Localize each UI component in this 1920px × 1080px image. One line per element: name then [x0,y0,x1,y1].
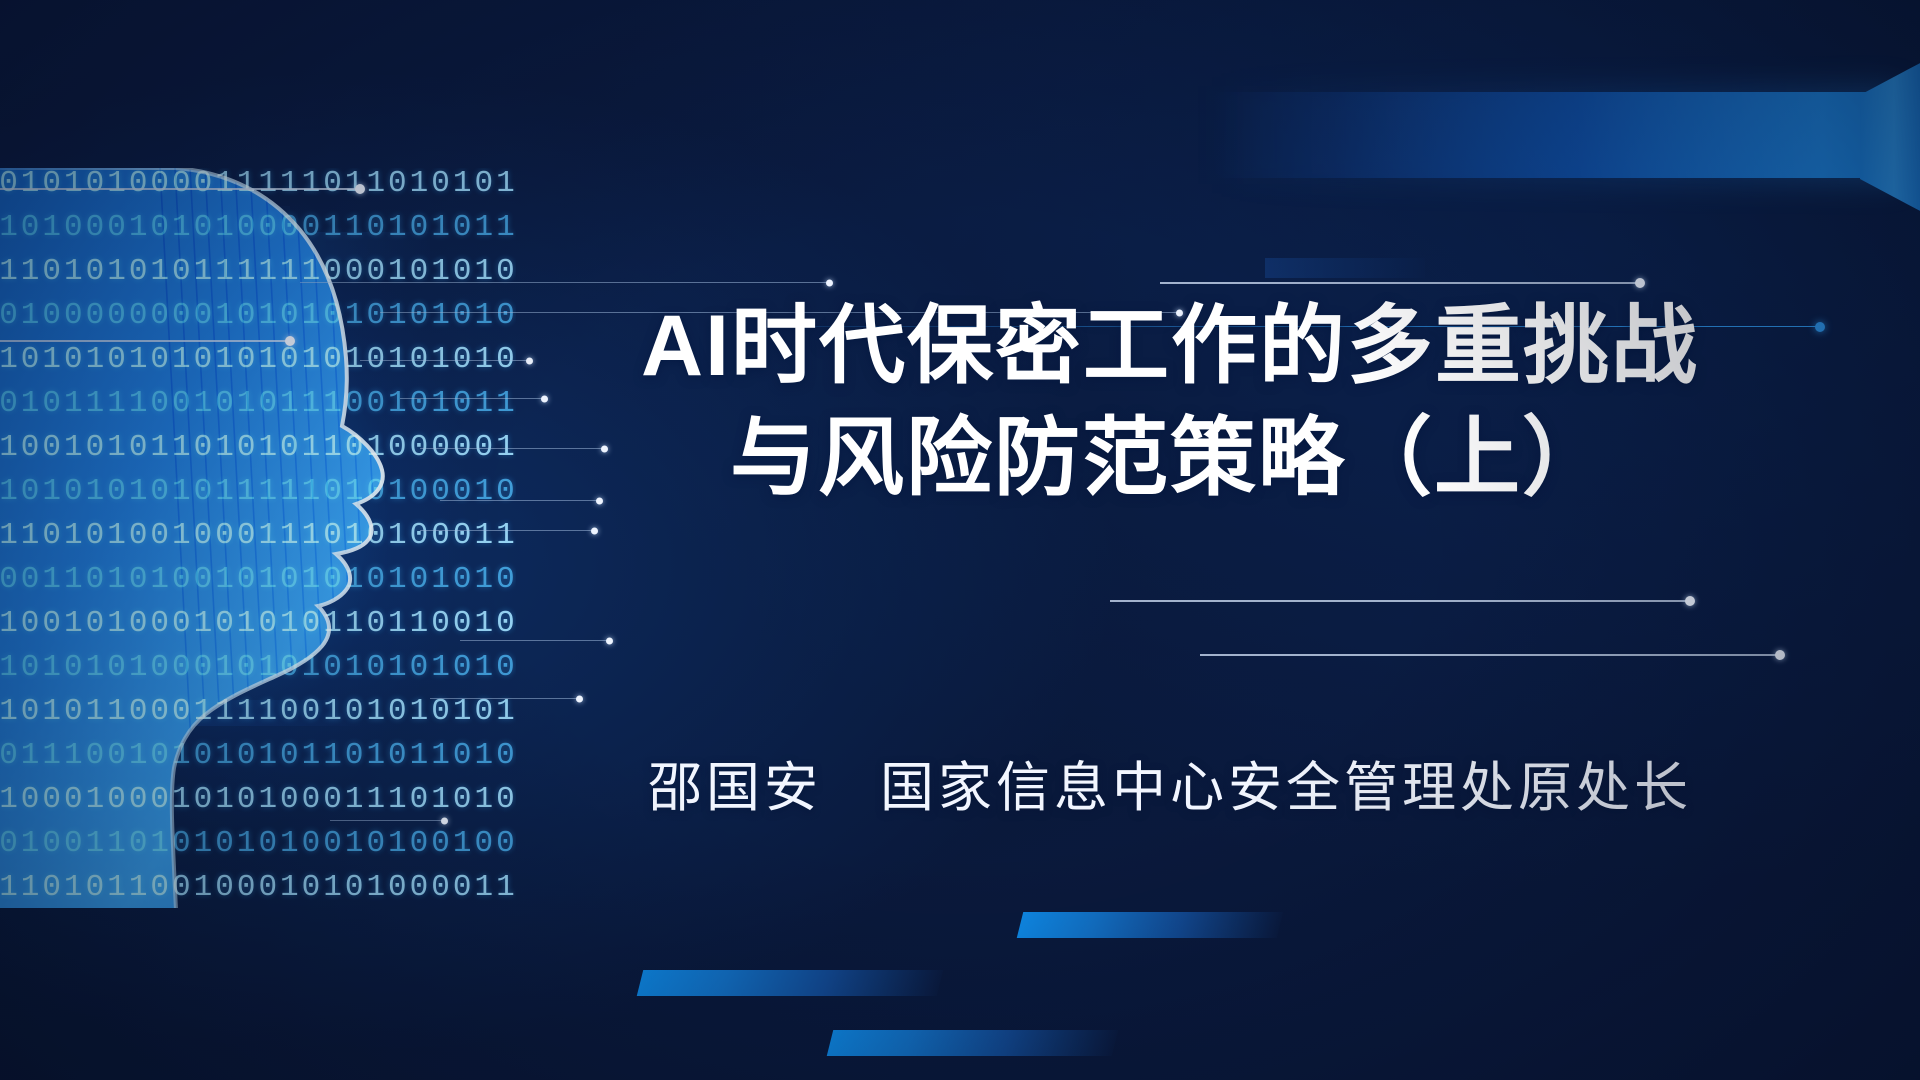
connector-node [355,184,365,194]
connector-node [576,695,583,702]
connector-line-with-node [0,188,360,190]
binary-row: 11010000000010101010101010 [0,294,516,338]
binary-row: 11110101001000111010100011 [0,514,516,558]
binary-row: 01100101000101010110110010 [0,602,516,646]
binary-row: 00010111100101011100101011 [0,382,516,426]
binary-row: 10110101010111111000101010 [0,250,516,294]
title-line-2: 与风险防范策略（上） [480,402,1860,514]
connector-line-with-node [0,340,290,342]
binary-row: 01010011010101010010100100 [0,822,516,866]
slide-subtitle: 邵国安 国家信息中心安全管理处原处长 [480,752,1860,824]
connector-line-with-node [330,820,445,821]
presentation-slide: 0001010100001111101101010111101000101010… [0,0,1920,1080]
binary-row: 01011100101010101101011010 [0,734,516,778]
connector-node [1635,278,1645,288]
binary-digit-field: 0001010100001111101101010111101000101010… [0,168,530,908]
binary-row: 00010101000011111011010101 [0,168,516,206]
binary-row: 11100010001010100011101010 [0,778,516,822]
connector-line-with-node [420,530,595,531]
binary-row: 10101010100010101010101010 [0,646,516,690]
binary-row: 00110101100100010101000011 [0,866,516,908]
connector-node [1775,650,1785,660]
decor-stripe [827,1030,1118,1056]
connector-line-with-node [460,640,610,641]
title-line-1: AI时代保密工作的多重挑战 [480,290,1860,402]
binary-row: 01001101010010101010101010 [0,558,516,602]
connector-node [1685,596,1695,606]
connector-node [606,637,613,644]
connector-line-with-node [300,282,830,283]
connector-node [826,279,833,286]
chevron-band [1215,92,1875,178]
connector-line-with-node [430,698,580,699]
binary-code-human-head: 0001010100001111101101010111101000101010… [0,168,530,908]
decor-stripe [1017,912,1283,938]
connector-line-with-node [1110,600,1690,602]
binary-row: 00101010101011111010100010 [0,470,516,514]
slide-title: AI时代保密工作的多重挑战 与风险防范策略（上） [480,290,1860,514]
connector-node [285,336,295,346]
decor-panel [1265,258,1425,278]
decor-stripe [637,970,943,996]
connector-line-with-node [1200,654,1780,656]
binary-row: 10101011000111100101010101 [0,690,516,734]
connector-node [441,817,448,824]
connector-node [591,527,598,534]
binary-row: 11101000101010000110101011 [0,206,516,250]
connector-line-with-node [1160,282,1640,284]
